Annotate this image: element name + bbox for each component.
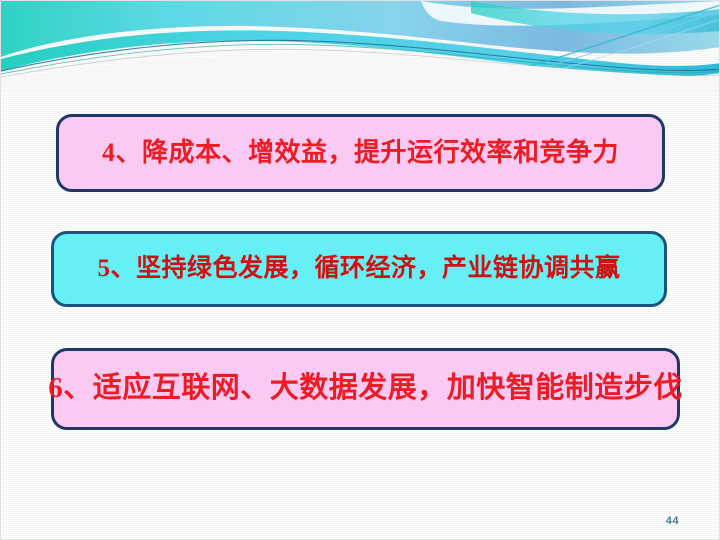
wave-shape-highlight	[421, 1, 720, 26]
wave-shape-secondary	[1, 30, 720, 76]
wave-shape-primary	[1, 1, 720, 57]
wave-line-accent-2	[1, 44, 720, 74]
wave-base-fill	[1, 54, 720, 91]
wave-shape-right-ribbon	[471, 1, 720, 34]
wave-streak-2	[531, 11, 720, 71]
wave-line-accent-3	[1, 49, 720, 77]
callout-box-6[interactable]: 6、适应互联网、大数据发展，加快智能制造步伐	[51, 348, 680, 430]
presentation-slide: 4、降成本、增效益，提升运行效率和竞争力 5、坚持绿色发展，循环经济，产业链协调…	[0, 0, 720, 540]
callout-box-5[interactable]: 5、坚持绿色发展，循环经济，产业链协调共赢	[51, 231, 667, 307]
callout-text-6: 6、适应互联网、大数据发展，加快智能制造步伐	[48, 373, 683, 405]
wave-streak-1	[521, 5, 720, 69]
wave-streak-3	[546, 19, 720, 73]
callout-text-4: 4、降成本、增效益，提升运行效率和竞争力	[102, 139, 619, 168]
page-number: 44	[666, 515, 679, 527]
decorative-wave-band	[1, 1, 720, 91]
callout-box-4[interactable]: 4、降成本、增效益，提升运行效率和竞争力	[56, 114, 665, 192]
wave-line-accent-1	[1, 40, 720, 71]
callout-text-5: 5、坚持绿色发展，循环经济，产业链协调共赢	[97, 255, 620, 283]
